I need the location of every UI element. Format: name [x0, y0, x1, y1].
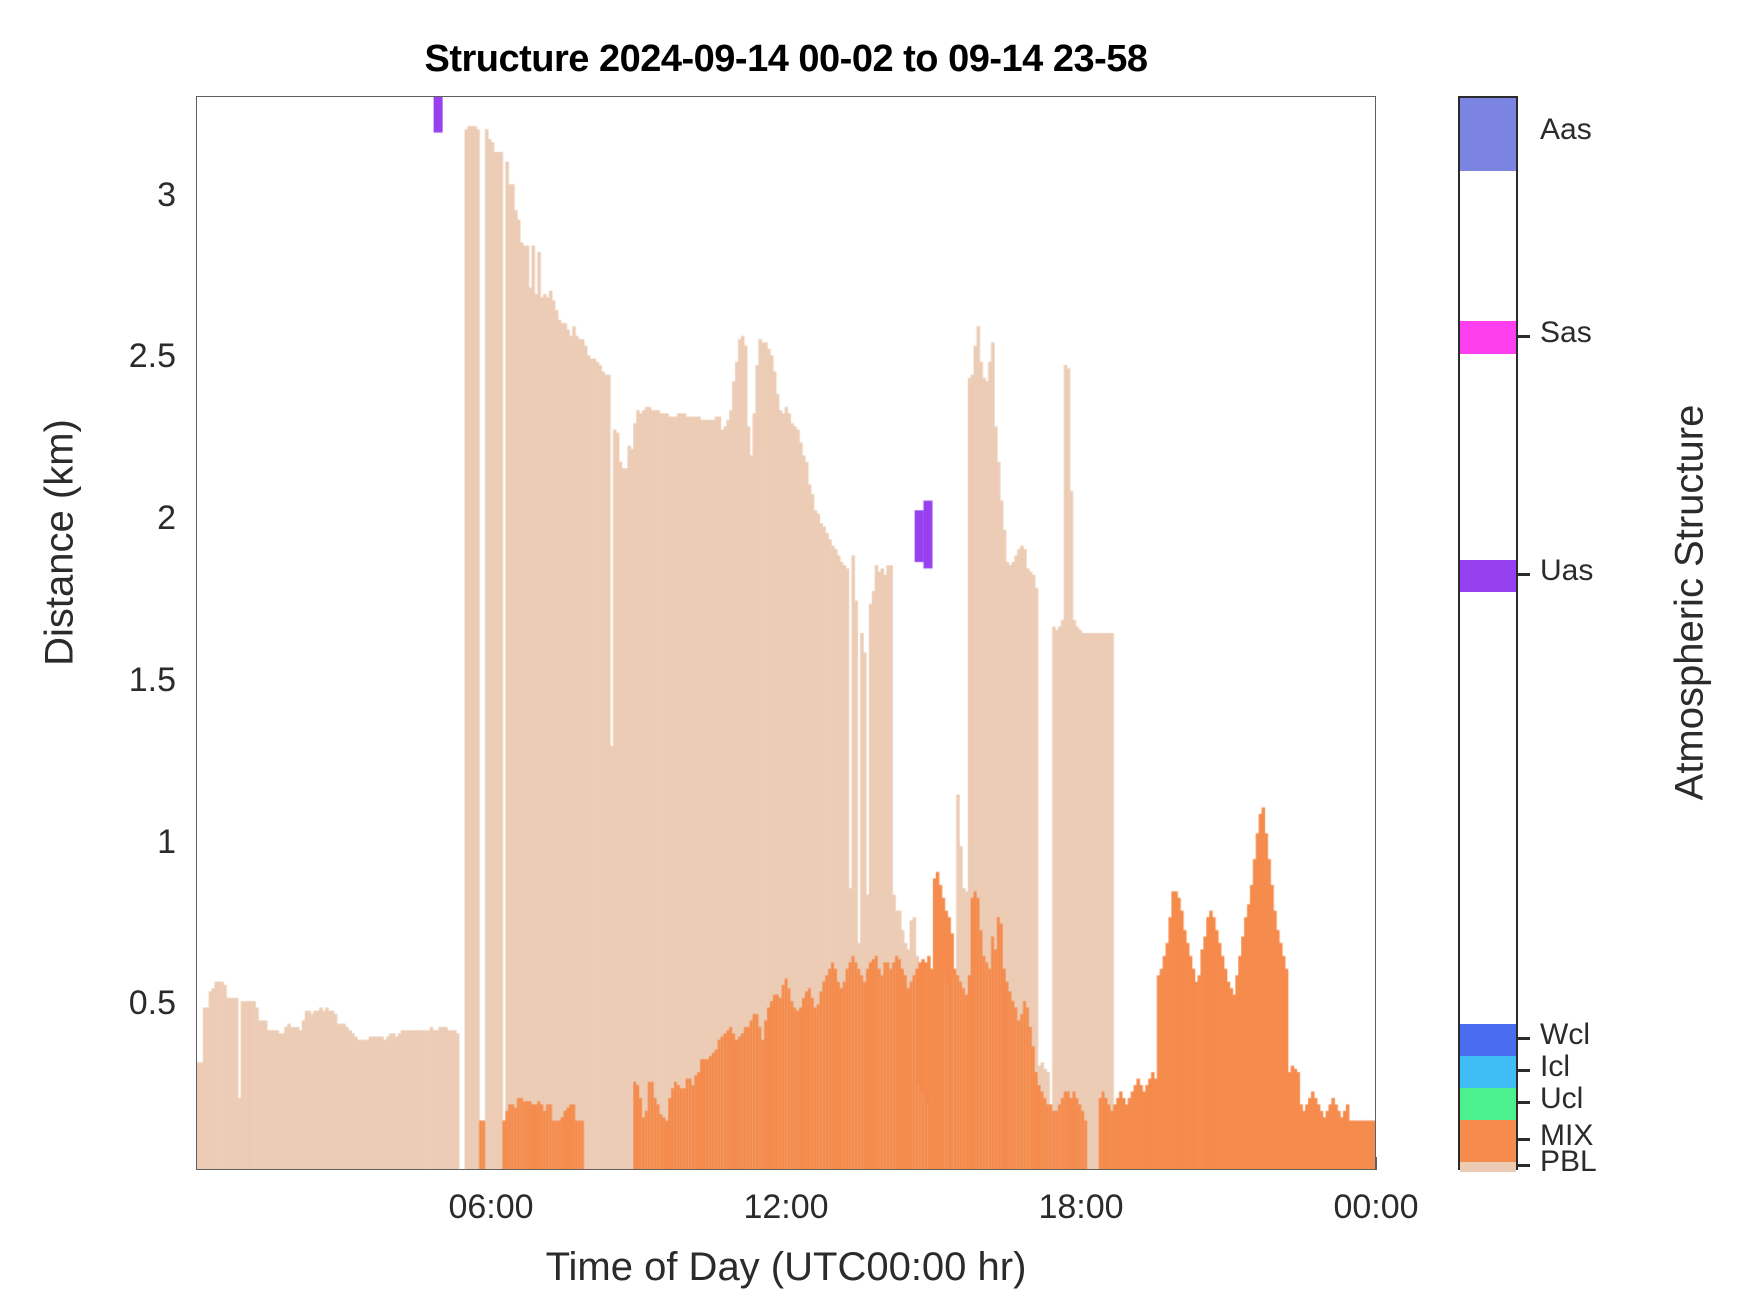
colorbar-label-wcl: Wcl	[1540, 1018, 1590, 1052]
y-tick-label: 0.5	[6, 984, 176, 1023]
colorbar[interactable]	[1458, 96, 1518, 1170]
colorbar-label-icl: Icl	[1540, 1050, 1570, 1084]
colorbar-label-aas: Aas	[1540, 113, 1592, 147]
colorbar-tick-sas	[1516, 335, 1530, 338]
colorbar-segment-wcl	[1460, 1024, 1516, 1056]
colorbar-segment-sas	[1460, 321, 1516, 353]
x-axis-label: Time of Day (UTC00:00 hr)	[196, 1245, 1376, 1290]
colorbar-tick-mix	[1516, 1138, 1530, 1141]
y-tick-label: 3	[6, 176, 176, 215]
x-tick-label: 12:00	[696, 1188, 876, 1227]
y-tick-label: 2	[6, 499, 176, 538]
colorbar-segment-aas	[1460, 98, 1516, 171]
colorbar-segment-pbl	[1460, 1162, 1516, 1172]
colorbar-label-ucl: Ucl	[1540, 1082, 1583, 1116]
colorbar-tick-pbl	[1516, 1164, 1530, 1167]
colorbar-tick-wcl	[1516, 1037, 1530, 1040]
colorbar-tick-uas	[1516, 573, 1530, 576]
colorbar-label-uas: Uas	[1540, 554, 1593, 588]
colorbar-segment-uas	[1460, 560, 1516, 592]
y-tick-label: 2.5	[6, 337, 176, 376]
chart-title: Structure 2024-09-14 00-02 to 09-14 23-5…	[196, 38, 1376, 81]
x-tick-label: 00:00	[1286, 1188, 1466, 1227]
colorbar-tick-ucl	[1516, 1101, 1530, 1104]
x-tick-label: 06:00	[401, 1188, 581, 1227]
x-tick-label: 18:00	[991, 1188, 1171, 1227]
plot-area	[196, 96, 1376, 1170]
colorbar-label-pbl: PBL	[1540, 1145, 1597, 1179]
colorbar-segment-ucl	[1460, 1088, 1516, 1120]
colorbar-segment-icl	[1460, 1056, 1516, 1088]
colorbar-label-sas: Sas	[1540, 316, 1592, 350]
structure-series-canvas	[197, 97, 1375, 1169]
y-tick-label: 1	[6, 823, 176, 862]
y-tick-label: 1.5	[6, 661, 176, 700]
colorbar-tick-icl	[1516, 1069, 1530, 1072]
chart-figure: Structure 2024-09-14 00-02 to 09-14 23-5…	[0, 0, 1750, 1313]
colorbar-title: Atmospheric Structure	[1668, 363, 1713, 843]
colorbar-segment-mix	[1460, 1120, 1516, 1162]
